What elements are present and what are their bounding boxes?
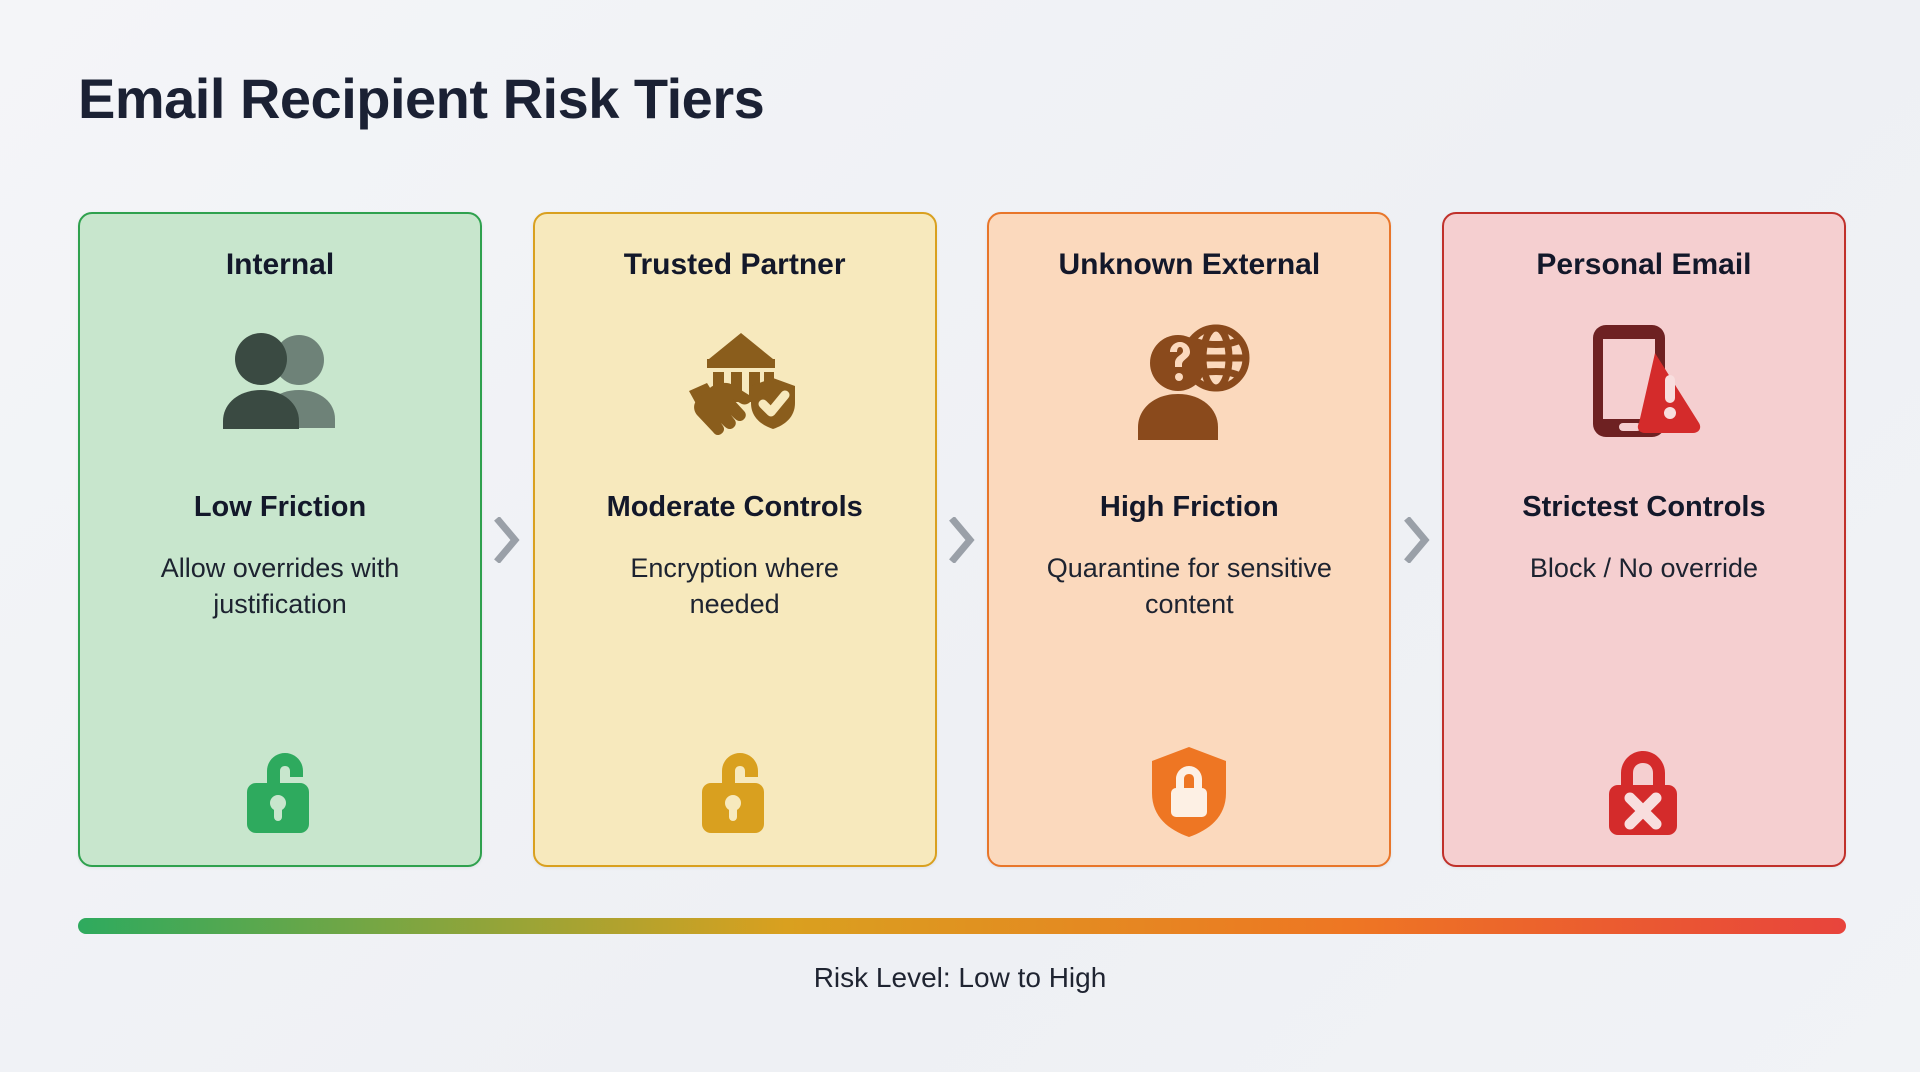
shield-padlock-icon	[1144, 735, 1234, 839]
bank-handshake-shield-icon	[667, 315, 803, 447]
open-padlock-icon	[692, 735, 778, 839]
tier-level: Low Friction	[194, 491, 366, 524]
unknown-person-globe-icon	[1124, 315, 1254, 447]
tier-description: Quarantine for sensitive content	[1039, 550, 1339, 623]
tier-description: Allow overrides with justification	[130, 550, 430, 623]
risk-level-gradient-bar	[78, 918, 1846, 934]
tier-level: High Friction	[1100, 491, 1279, 524]
tier-title: Unknown External	[1058, 248, 1320, 283]
chevron-right-icon-3	[1395, 212, 1439, 867]
tier-title: Personal Email	[1536, 248, 1751, 283]
tier-description: Encryption where needed	[585, 550, 885, 623]
chevron-right-icon-2	[940, 212, 984, 867]
chevron-right-icon-1	[485, 212, 529, 867]
locked-padlock-x-icon	[1601, 735, 1687, 839]
risk-level-caption: Risk Level: Low to High	[0, 962, 1920, 994]
risk-tier-card-personal-email[interactable]: Personal Email Strictest Controls Block …	[1442, 212, 1846, 867]
two-people-icon	[216, 315, 344, 447]
open-padlock-icon	[237, 735, 323, 839]
risk-tier-card-trusted-partner[interactable]: Trusted Partner	[533, 212, 937, 867]
tier-title: Internal	[226, 248, 334, 283]
page-title: Email Recipient Risk Tiers	[78, 68, 764, 130]
tier-title: Trusted Partner	[624, 248, 846, 283]
tier-level: Strictest Controls	[1522, 491, 1765, 524]
risk-tier-card-internal[interactable]: Internal Low Friction Allow overrides wi…	[78, 212, 482, 867]
tier-description: Block / No override	[1530, 550, 1758, 586]
phone-warning-icon	[1583, 315, 1705, 447]
risk-tier-card-unknown-external[interactable]: Unknown External	[987, 212, 1391, 867]
tier-level: Moderate Controls	[607, 491, 863, 524]
risk-tier-row: Internal Low Friction Allow overrides wi…	[78, 212, 1846, 867]
infographic-canvas: Email Recipient Risk Tiers Internal Low …	[0, 0, 1920, 1072]
